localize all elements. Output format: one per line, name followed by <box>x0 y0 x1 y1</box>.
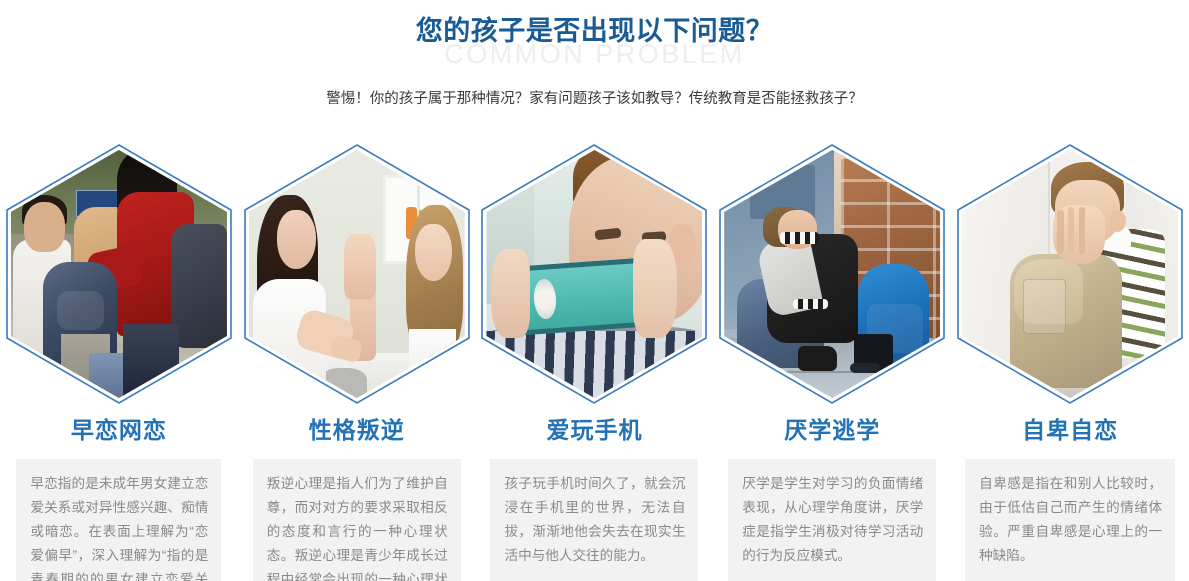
problem-card[interactable]: 自卑自恋 自卑感是指在和别人比较时，由于低估自己而产生的情绪体验。严重自卑感是心… <box>951 143 1189 581</box>
card-description: 早恋指的是未成年男女建立恋爱关系或对异性感兴趣、痴情或暗恋。在表面上理解为“恋爱… <box>16 459 221 581</box>
card-title: 自卑自恋 <box>1022 415 1118 445</box>
card-title: 早恋网恋 <box>71 415 167 445</box>
card-description: 叛逆心理是指人们为了维护自尊，而对对方的要求采取相反的态度和言行的一种心理状态。… <box>253 459 461 581</box>
card-title: 爱玩手机 <box>546 415 642 445</box>
card-description: 厌学是学生对学习的负面情绪表现，从心理学角度讲，厌学症是指学生消极对待学习活动的… <box>728 459 936 581</box>
section-heading: COMMON PROBLEM 您的孩子是否出现以下问题？ <box>0 0 1189 78</box>
problem-card[interactable]: 性格叛逆 叛逆心理是指人们为了维护自尊，而对对方的要求采取相反的态度和言行的一种… <box>238 143 476 581</box>
hexagon-image-frame[interactable] <box>243 143 471 405</box>
problem-cards-row: 早恋网恋 早恋指的是未成年男女建立恋爱关系或对异性感兴趣、痴情或暗恋。在表面上理… <box>0 143 1189 581</box>
problem-card[interactable]: 爱玩手机 孩子玩手机时间久了，就会沉浸在手机里的世界，无法自拔，渐渐地他会失去在… <box>476 143 714 581</box>
problem-card[interactable]: 厌学逃学 厌学是学生对学习的负面情绪表现，从心理学角度讲，厌学症是指学生消极对待… <box>713 143 951 581</box>
hexagon-image-frame[interactable] <box>5 143 233 405</box>
section-title: 您的孩子是否出现以下问题？ <box>0 14 1189 48</box>
card-title: 厌学逃学 <box>784 415 880 445</box>
hexagon-image-frame[interactable] <box>480 143 708 405</box>
common-problem-section: COMMON PROBLEM 您的孩子是否出现以下问题？ 警惕！你的孩子属于那种… <box>0 0 1189 581</box>
hexagon-image-frame[interactable] <box>718 143 946 405</box>
hexagon-image-frame[interactable] <box>956 143 1184 405</box>
card-description: 孩子玩手机时间久了，就会沉浸在手机里的世界，无法自拔，渐渐地他会失去在现实生活中… <box>490 459 698 581</box>
card-title: 性格叛逆 <box>309 415 405 445</box>
section-description: 警惕！你的孩子属于那种情况？家有问题孩子该如教导？传统教育是否能拯救孩子？ <box>0 88 1189 110</box>
card-description: 自卑感是指在和别人比较时，由于低估自己而产生的情绪体验。严重自卑感是心理上的一种… <box>965 459 1175 581</box>
problem-card[interactable]: 早恋网恋 早恋指的是未成年男女建立恋爱关系或对异性感兴趣、痴情或暗恋。在表面上理… <box>0 143 238 581</box>
